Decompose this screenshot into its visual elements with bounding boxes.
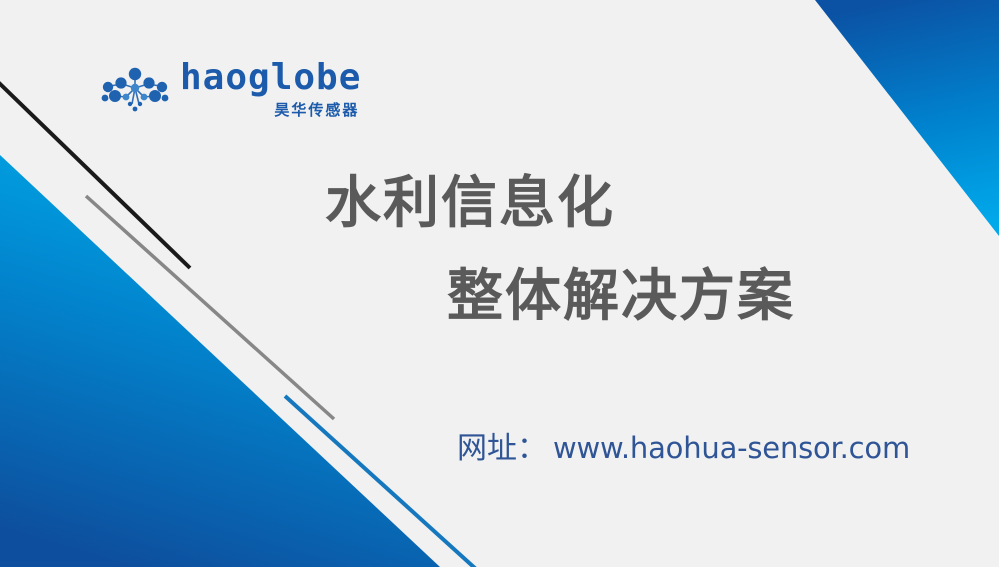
presentation-title-slide: haoglobe 昊华传感器 水利信息化 整体解决方案 网址： www.haoh… [0,0,999,567]
website-line[interactable]: 网址： www.haohua-sensor.com [457,423,910,467]
website-label: 网址： [457,423,547,467]
title-line-two: 整体解决方案 [447,265,795,329]
website-url[interactable]: www.haohua-sensor.com [553,431,910,465]
title-line-one: 水利信息化 [325,172,615,236]
slide-title-group: 水利信息化 整体解决方案 [0,0,999,567]
